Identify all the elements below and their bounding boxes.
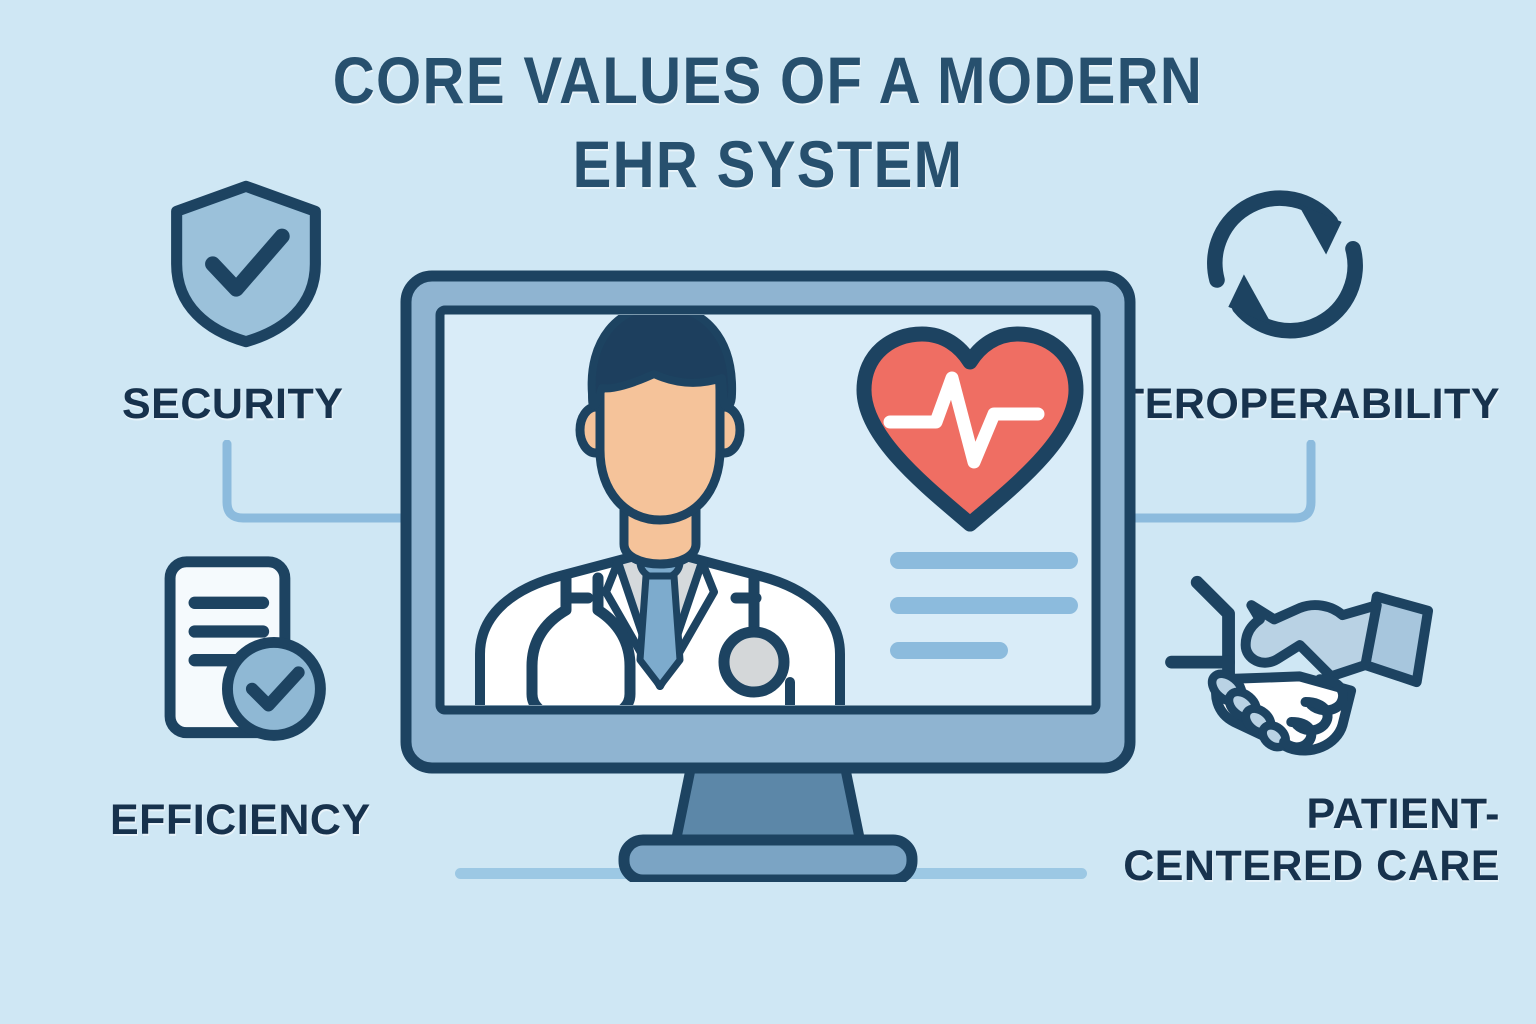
desktop-monitor xyxy=(392,262,1144,882)
value-label-security: SECURITY xyxy=(122,378,343,430)
infographic-canvas: CORE VALUES OF A MODERN EHR SYSTEM SECUR… xyxy=(0,0,1536,1024)
sync-arrows-icon xyxy=(1194,178,1376,348)
value-label-efficiency: EFFICIENCY xyxy=(110,794,371,846)
shield-check-icon xyxy=(160,178,332,350)
handshake-icon xyxy=(1163,570,1448,760)
connector-right xyxy=(1116,440,1316,530)
document-check-icon xyxy=(140,552,345,752)
value-label-patient-centered-care: PATIENT- CENTERED CARE xyxy=(1123,788,1500,892)
